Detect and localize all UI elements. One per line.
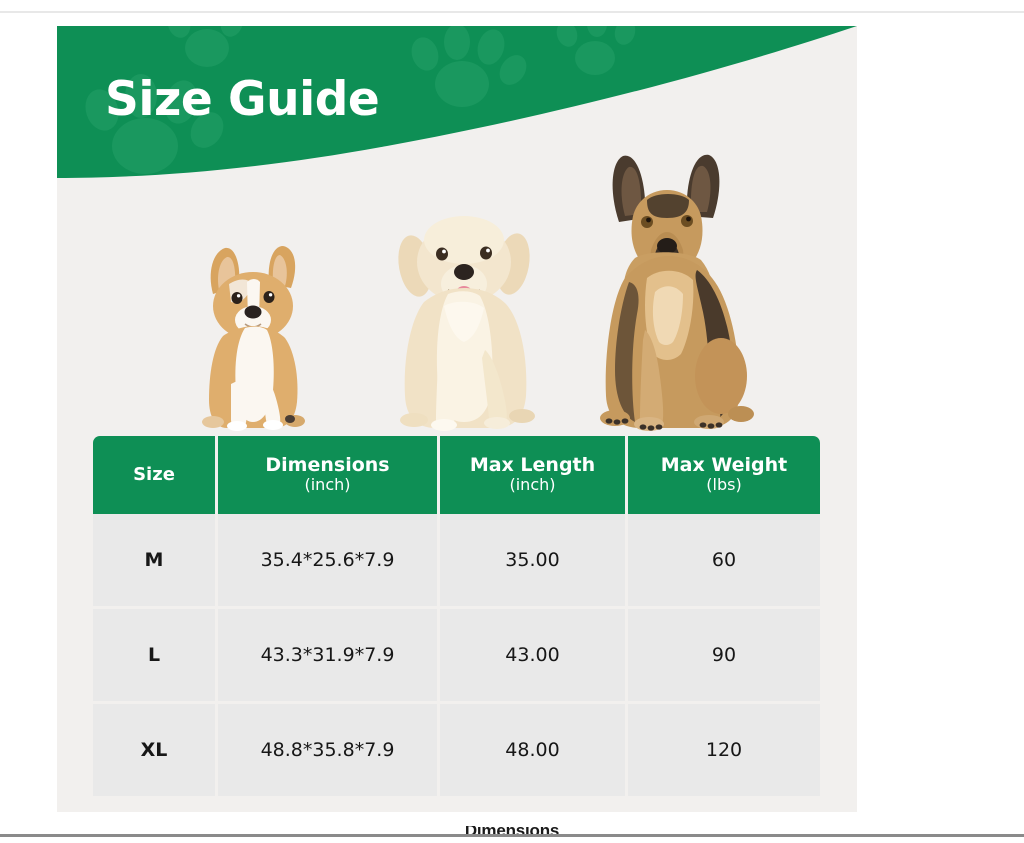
cell-max-length: 35.00 [440,514,628,609]
table-row: L 43.3*31.9*7.9 43.00 90 [93,609,820,704]
table-row: M 35.4*25.6*7.9 35.00 60 [93,514,820,609]
cell-dimensions: 48.8*35.8*7.9 [218,704,440,796]
cell-max-length: 48.00 [440,704,628,796]
cell-max-weight: 120 [628,704,820,796]
page-root: Size Guide [0,0,1024,843]
column-header-max-length-main: Max Length [440,456,625,476]
column-header-max-weight-unit: (lbs) [628,476,820,494]
dog-image-golden-retriever [382,210,547,434]
cell-size: M [93,514,218,609]
cell-dimensions: 43.3*31.9*7.9 [218,609,440,704]
cell-max-length: 43.00 [440,609,628,704]
column-header-dimensions: Dimensions (inch) [218,436,440,514]
cell-dimensions: 35.4*25.6*7.9 [218,514,440,609]
dog-illustrations: M L XL [57,116,857,446]
column-header-size-main: Size [93,466,215,485]
column-header-max-length: Max Length (inch) [440,436,628,514]
table-row: XL 48.8*35.8*7.9 48.00 120 [93,704,820,796]
cell-max-weight: 90 [628,609,820,704]
column-header-dimensions-main: Dimensions [218,456,437,476]
cell-size: XL [93,704,218,796]
column-header-dimensions-unit: (inch) [218,476,437,494]
column-header-size: Size [93,436,218,514]
cell-size: L [93,609,218,704]
column-header-max-weight-main: Max Weight [628,456,820,476]
dog-image-german-shepherd [585,154,755,434]
bottom-divider [0,834,1024,837]
cell-max-weight: 60 [628,514,820,609]
size-guide-table: Size Dimensions (inch) Max Length (inch)… [93,436,820,796]
top-divider [0,11,1024,13]
size-guide-card: Size Guide [57,26,857,812]
column-header-max-length-unit: (inch) [440,476,625,494]
table-header-row: Size Dimensions (inch) Max Length (inch)… [93,436,820,514]
column-header-max-weight: Max Weight (lbs) [628,436,820,514]
dog-image-corgi [187,244,317,434]
